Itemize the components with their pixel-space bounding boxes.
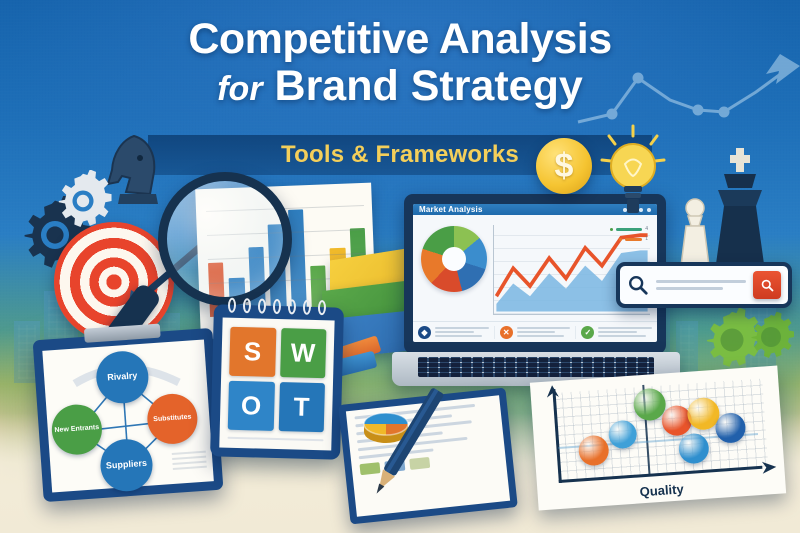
spiral-binding: [228, 298, 326, 316]
spiral-ring: [228, 298, 236, 313]
poster-canvas: Competitive Analysis for Brand Strategy …: [0, 0, 800, 533]
spiral-ring: [243, 298, 251, 313]
swot-cell-t: T: [278, 382, 325, 432]
y-axis-arrow: [544, 385, 561, 402]
spiral-ring: [288, 299, 296, 314]
search-button-icon: [760, 278, 775, 293]
search-input[interactable]: [656, 280, 746, 290]
title-for-word: for: [217, 70, 262, 108]
swot-cell-w: W: [280, 328, 327, 378]
five-forces-diagram: RivalryNew EntrantsSubstitutesSuppliers: [42, 340, 214, 493]
spiral-ring: [273, 299, 281, 314]
gear-icon: [746, 312, 796, 362]
footer-drop-icon[interactable]: ◆: [413, 326, 495, 339]
swot-cell-o: O: [228, 381, 275, 431]
spiral-ring: [258, 298, 266, 313]
dollar-coin-icon: $: [536, 138, 592, 194]
spiral-ring: [318, 300, 326, 315]
legend-row-0: 4: [610, 226, 648, 232]
search-bar[interactable]: [616, 262, 792, 308]
swot-underline: [227, 437, 323, 442]
magnifying-glass-icon: [158, 172, 292, 306]
chart-legend: 41: [610, 226, 648, 242]
footer-close-x-icon[interactable]: ✕: [495, 326, 577, 339]
laptop-keyboard[interactable]: [418, 357, 654, 377]
title-line-1: Competitive Analysis: [0, 18, 800, 62]
clipboard-icon: RivalryNew EntrantsSubstitutesSuppliers: [33, 328, 224, 502]
check-arrow-icon: ✓: [581, 326, 594, 339]
swot-row-top: S W: [229, 327, 326, 378]
legend-row-1: 1: [619, 236, 648, 242]
swot-row-bottom: O T: [228, 381, 325, 432]
close-x-icon: ✕: [500, 326, 513, 339]
drop-icon: ◆: [418, 326, 431, 339]
swot-notepad: S W O T: [210, 304, 344, 459]
poster-subtitle: Tools & Frameworks: [281, 141, 519, 169]
perceptual-map-card: Quality: [530, 366, 786, 511]
donut-chart: [421, 226, 487, 292]
title-line-2-text: Brand Strategy: [275, 62, 583, 110]
swot-cell-s: S: [229, 327, 276, 377]
magnifier-icon: [627, 274, 649, 296]
x-axis-arrow: [758, 459, 777, 476]
poster-title: Competitive Analysis for Brand Strategy: [0, 18, 800, 109]
title-line-2: for Brand Strategy: [0, 64, 800, 109]
dashboard-footer: ◆✕✓: [413, 321, 657, 342]
search-button[interactable]: [753, 271, 781, 299]
footer-check-arrow-icon[interactable]: ✓: [576, 326, 657, 339]
lightbulb-icon: [600, 124, 666, 218]
swot-matrix: S W O T: [219, 318, 334, 451]
coin-glyph: $: [555, 149, 574, 183]
dashboard-title: Market Analysis: [419, 205, 483, 214]
spiral-ring: [303, 300, 311, 315]
